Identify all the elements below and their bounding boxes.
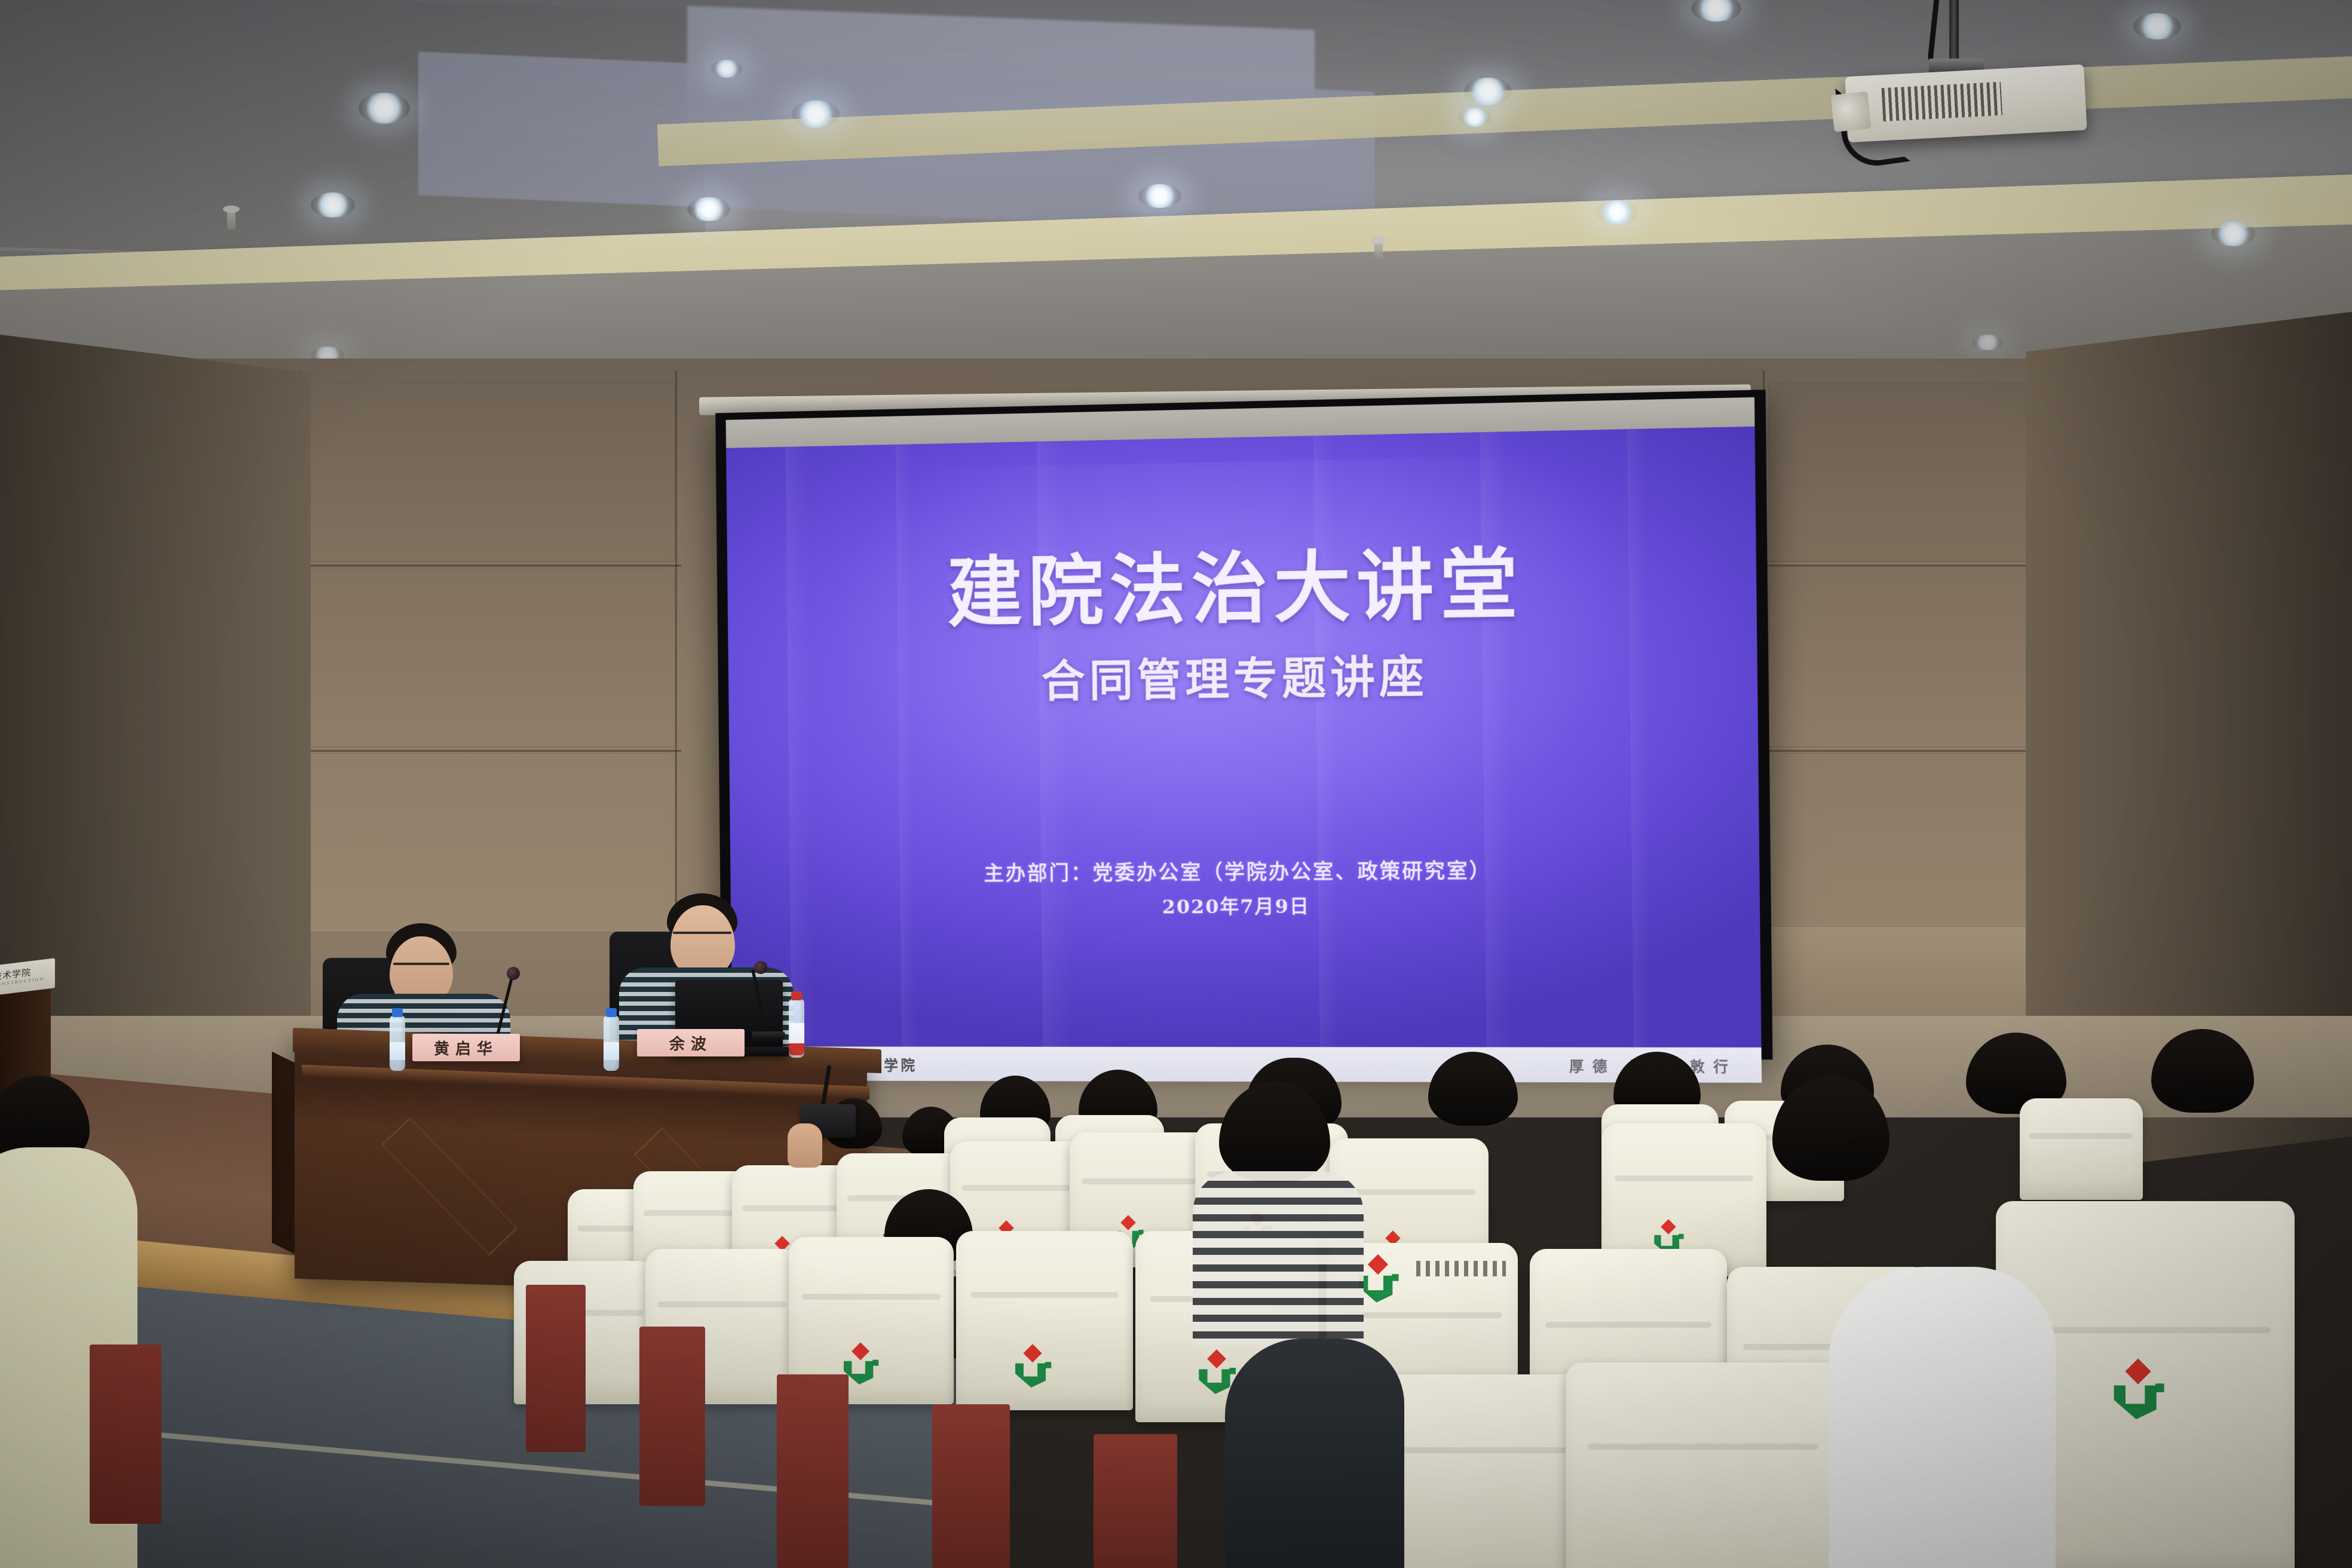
ceiling-light <box>792 100 840 128</box>
projector-mount-rod <box>1949 0 1959 65</box>
bottle-label-band <box>789 1043 804 1055</box>
ceiling-light <box>2133 13 2181 39</box>
slide-date: 2020年7月9日 <box>731 889 1760 921</box>
audience-seat <box>2020 1098 2143 1200</box>
audience-person-foreground <box>1225 1339 1404 1568</box>
slide-title: 建院法治大讲堂 <box>727 517 1757 644</box>
projector-vent-grille <box>1881 82 2002 121</box>
audience-torso <box>1193 1171 1364 1345</box>
projector <box>1845 65 2087 143</box>
eyeglasses <box>393 963 449 965</box>
ceiling-light <box>1972 335 2003 350</box>
seat-logo-chevron-icon <box>1012 1361 1053 1389</box>
ceiling-light <box>311 192 355 218</box>
audience-torso <box>1829 1267 2056 1568</box>
seat-frame <box>777 1374 849 1568</box>
ceiling-light <box>359 93 410 124</box>
wall-panel <box>1769 568 2050 747</box>
eyeglasses <box>673 932 731 934</box>
microphone-head <box>507 967 520 980</box>
wall-panel <box>305 568 675 747</box>
audience-head <box>1219 1082 1330 1182</box>
seat-logo-chevron-icon <box>2109 1383 2166 1422</box>
table-panel-detail <box>381 1117 518 1255</box>
ceiling-light <box>1464 78 1512 105</box>
nameplate-right: 余波 <box>637 1029 745 1056</box>
audience-seat-foreground <box>1566 1362 1840 1568</box>
seat-frame <box>639 1327 705 1506</box>
audience-person-foreground <box>1207 1082 1345 1333</box>
ceiling-light <box>1458 108 1492 127</box>
seat-frame <box>1094 1434 1177 1568</box>
water-bottle[interactable] <box>390 1016 405 1071</box>
audience-person-foreground <box>1829 1267 2056 1568</box>
audience-torso <box>1225 1339 1404 1568</box>
wall-panel <box>305 753 675 932</box>
slide-subtitle: 合同管理专题讲座 <box>728 636 1758 713</box>
wall-panel <box>1769 753 2050 932</box>
nameplate-left: 黄启华 <box>412 1034 520 1061</box>
microphone-base <box>752 1031 785 1040</box>
seat-frame <box>932 1404 1010 1568</box>
sprinkler-head <box>1374 240 1383 261</box>
nameplate-left-text: 黄启华 <box>434 1037 498 1059</box>
microphone-head <box>754 961 767 974</box>
seat-frame <box>526 1285 586 1452</box>
audience-seat <box>956 1231 1133 1410</box>
seat-frame <box>90 1345 161 1524</box>
ceiling-light <box>687 197 730 221</box>
slide-footer: 建设职业技术学院 厚德 励学 敦行 <box>732 1046 1762 1083</box>
ceiling-light <box>1138 184 1181 208</box>
seat-logo-wordmark <box>1416 1261 1506 1276</box>
slide-surface: 建院法治大讲堂 合同管理专题讲座 主办部门：党委办公室（学院办公室、政策研究室）… <box>726 427 1761 1048</box>
wall-panel <box>305 382 675 562</box>
slide-organizer: 主办部门：党委办公室（学院办公室、政策研究室） <box>730 853 1760 887</box>
nameplate-right-text: 余波 <box>669 1032 712 1054</box>
projection-screen: 建院法治大讲堂 合同管理专题讲座 主办部门：党委办公室（学院办公室、政策研究室）… <box>715 390 1772 1059</box>
seat-logo-icon <box>2109 1362 2166 1422</box>
lecture-hall-photo: 建院法治大讲堂 合同管理专题讲座 主办部门：党委办公室（学院办公室、政策研究室）… <box>0 0 2352 1568</box>
hand <box>788 1123 822 1168</box>
wall-panel <box>1769 382 2050 562</box>
water-bottle[interactable] <box>604 1016 619 1071</box>
water-bottle[interactable] <box>789 999 804 1058</box>
ceiling-light <box>711 60 742 78</box>
ceiling-light <box>2211 221 2255 246</box>
seat-logo-icon <box>1012 1347 1053 1389</box>
audience-head <box>1772 1076 1889 1181</box>
ceiling-light <box>1595 200 1639 224</box>
projector-lens <box>1830 91 1871 132</box>
sprinkler-head <box>227 209 235 229</box>
